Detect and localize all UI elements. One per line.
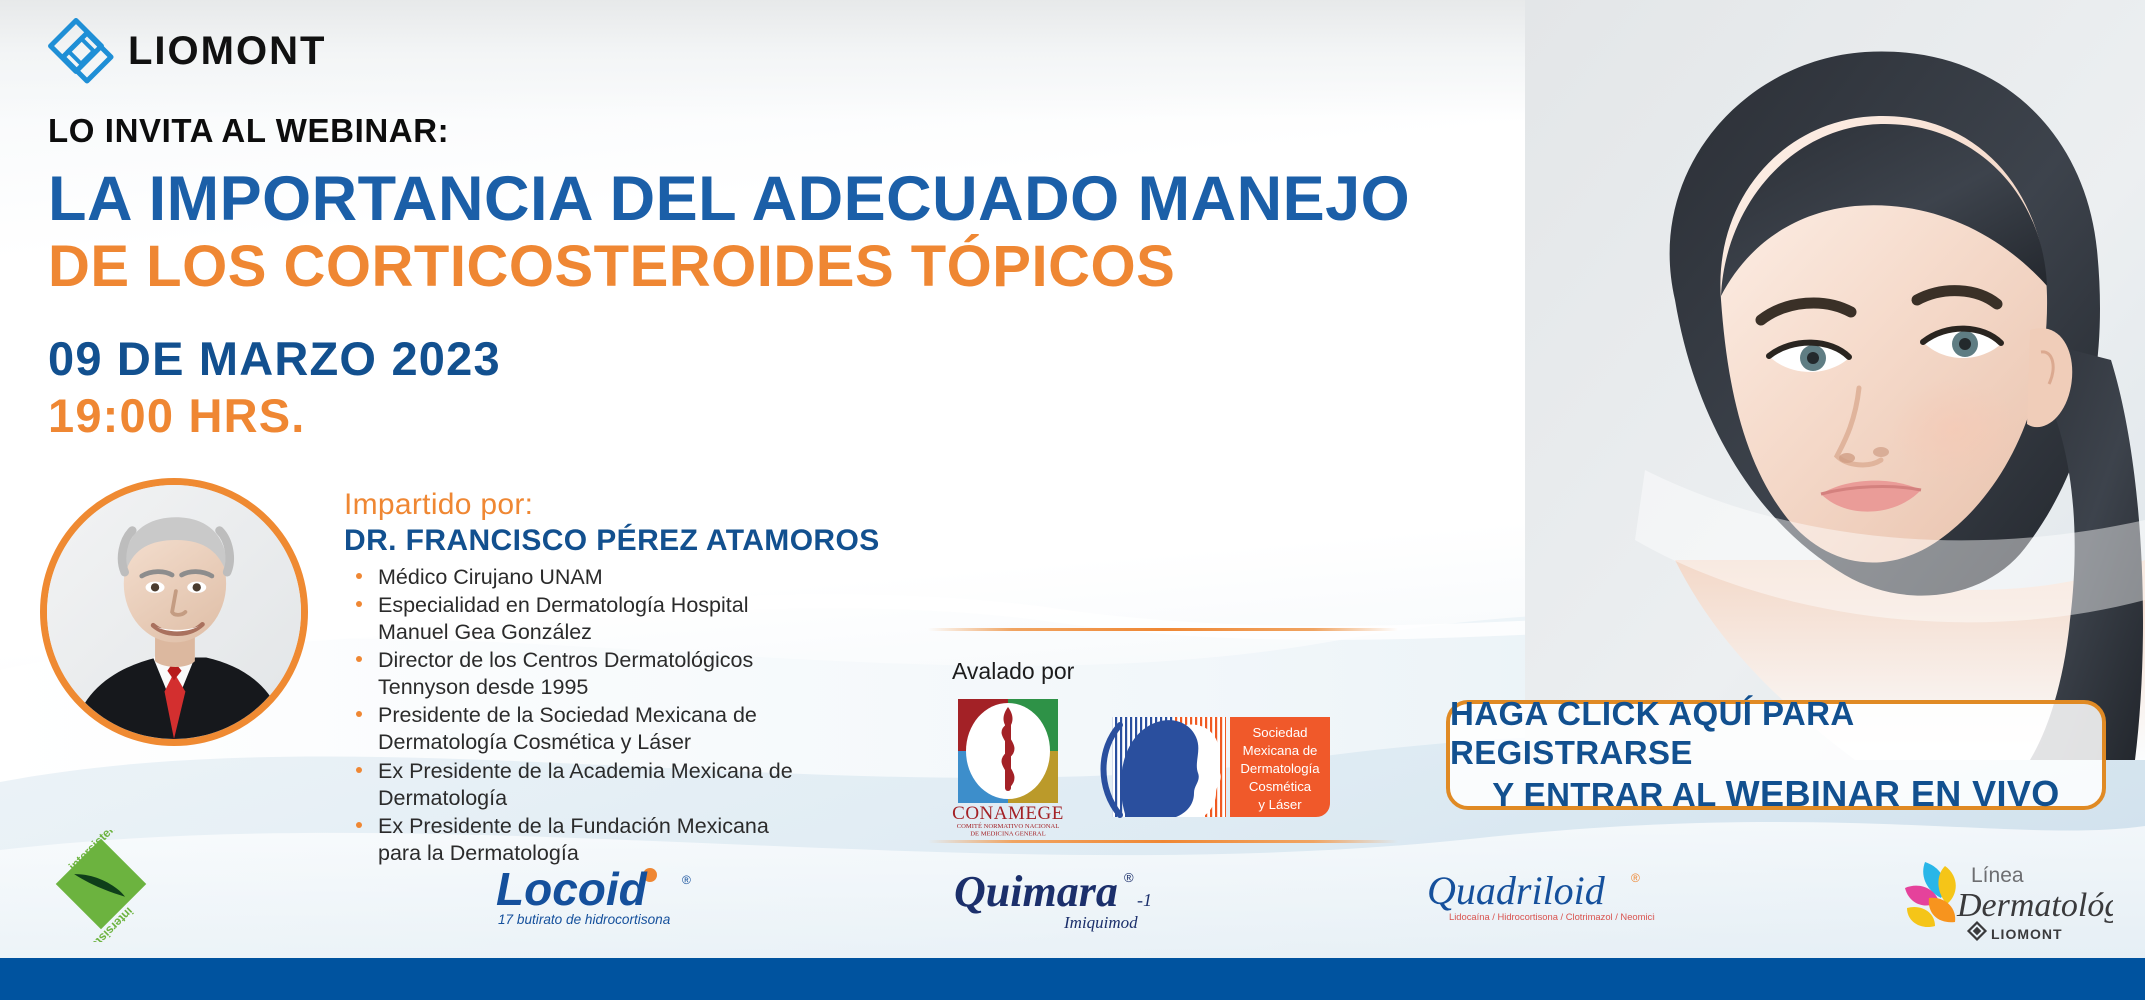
accent-rule-top bbox=[928, 628, 1398, 631]
smdcl-line-3: Dermatología bbox=[1240, 761, 1320, 776]
model-photo bbox=[1525, 0, 2145, 760]
quimara-logo: Quimara ® -1 Imiquimod bbox=[952, 862, 1164, 934]
smdcl-line-5: y Láser bbox=[1258, 797, 1302, 812]
liomont-mini-mark bbox=[1969, 923, 1986, 940]
quadriloid-name-blue: Quadriloid bbox=[1427, 868, 1606, 913]
credential-item: Presidente de la Sociedad Mexicana de De… bbox=[344, 702, 814, 756]
linea-label: Línea bbox=[1971, 864, 2024, 887]
liomont-mini-wordmark: LIOMONT bbox=[1991, 926, 2063, 942]
locoid-logo: Locoid ® 17 butirato de hidrocortisona bbox=[492, 858, 708, 932]
credential-text: Director de los Centros Dermatológicos T… bbox=[378, 648, 753, 699]
speaker-intro: Impartido por: bbox=[344, 488, 880, 522]
speaker-block: Impartido por: DR. FRANCISCO PÉREZ ATAMO… bbox=[40, 478, 880, 868]
speaker-name: DR. FRANCISCO PÉREZ ATAMOROS bbox=[344, 524, 880, 558]
credential-text: Presidente de la Sociedad Mexicana de De… bbox=[378, 703, 757, 754]
conamege-logo: CONAMEGE COMITÉ NORMATIVO NACIONAL DE ME… bbox=[952, 697, 1064, 837]
event-time: 19:00 HRS. bbox=[48, 388, 1528, 443]
credential-text: Ex Presidente de la Academia Mexicana de… bbox=[378, 759, 793, 810]
smdcl-line-2: Mexicana de bbox=[1243, 743, 1318, 758]
speaker-details: Impartido por: DR. FRANCISCO PÉREZ ATAMO… bbox=[344, 478, 880, 868]
bullet-icon bbox=[356, 573, 362, 579]
brand-logo: LIOMONT bbox=[48, 18, 326, 84]
petal-flower-icon bbox=[1905, 862, 1956, 927]
credential-item: Ex Presidente de la Academia Mexicana de… bbox=[344, 758, 814, 812]
cta-line-2-prefix: Y ENTRAR AL bbox=[1492, 776, 1725, 813]
credential-text: Especialidad en Dermatología Hospital Ma… bbox=[378, 593, 749, 644]
endorsement-block: Avalado por CONAMEGE COMITÉ NORMATIVO NA… bbox=[938, 630, 1408, 837]
bullet-icon bbox=[356, 711, 362, 717]
quimara-subtitle: Imiquimod bbox=[1063, 913, 1138, 932]
quimara-suffix: -1 bbox=[1137, 890, 1152, 910]
bullet-icon bbox=[356, 822, 362, 828]
credential-item: Especialidad en Dermatología Hospital Ma… bbox=[344, 592, 814, 646]
diamond-logo-icon bbox=[48, 18, 114, 84]
linea-dermatologica-logo: Línea Dermatológica LIOMONT bbox=[1885, 854, 2113, 950]
brand-name: LIOMONT bbox=[128, 29, 326, 74]
smdcl-line-1: Sociedad bbox=[1253, 725, 1308, 740]
smdcl-line-4: Cosmética bbox=[1249, 779, 1312, 794]
quimara-name: Quimara bbox=[954, 867, 1118, 916]
bullet-icon bbox=[356, 767, 362, 773]
credential-item: Médico Cirujano UNAM bbox=[344, 564, 814, 591]
speaker-portrait bbox=[40, 478, 308, 746]
quimara-registered: ® bbox=[1124, 870, 1134, 885]
endorsement-logos: CONAMEGE COMITÉ NORMATIVO NACIONAL DE ME… bbox=[938, 697, 1408, 837]
quadriloid-registered: ® bbox=[1631, 871, 1640, 885]
title-line-2: DE LOS CORTICOSTEROIDES TÓPICOS bbox=[48, 235, 1528, 299]
bottom-color-bar bbox=[0, 958, 2145, 1000]
cta-line-2: Y ENTRAR AL WEBINAR EN VIVO bbox=[1492, 773, 2059, 815]
smdcl-logo: Sociedad Mexicana de Dermatología Cosmét… bbox=[1090, 707, 1336, 827]
headline-block: LO INVITA AL WEBINAR: LA IMPORTANCIA DEL… bbox=[48, 112, 1528, 443]
kicker-text: LO INVITA AL WEBINAR: bbox=[48, 112, 1528, 150]
conamege-subtitle-1: COMITÉ NORMATIVO NACIONAL bbox=[957, 822, 1060, 830]
credential-text: Médico Cirujano UNAM bbox=[378, 565, 603, 589]
locoid-name: Locoid bbox=[496, 863, 648, 915]
cta-line-1: HAGA CLICK AQUÍ PARA REGISTRARSE bbox=[1450, 695, 2102, 773]
locoid-subtitle: 17 butirato de hidrocortisona bbox=[498, 912, 671, 927]
cta-line-2-strong: WEBINAR EN VIVO bbox=[1726, 773, 2060, 814]
event-date: 09 DE MARZO 2023 bbox=[48, 331, 1528, 386]
quadriloid-logo: Quadriloid ® Lidocaína / Hidrocortisona … bbox=[1425, 864, 1655, 928]
register-cta-button[interactable]: HAGA CLICK AQUÍ PARA REGISTRARSE Y ENTRA… bbox=[1446, 700, 2106, 810]
locoid-registered: ® bbox=[682, 873, 691, 887]
conamege-subtitle-2: DE MEDICINA GENERAL bbox=[970, 831, 1045, 838]
webinar-banner: LIOMONT LO INVITA AL WEBINAR: LA IMPORTA… bbox=[0, 0, 2145, 1000]
dermatologica-script: Dermatológica bbox=[1956, 887, 2113, 924]
speaker-credentials-list: Médico Cirujano UNAM Especialidad en Der… bbox=[344, 564, 880, 867]
credential-item: Director de los Centros Dermatológicos T… bbox=[344, 647, 814, 701]
intersistemas-logo: intersistemas intersistemas bbox=[42, 830, 160, 942]
quadriloid-subtitle: Lidocaína / Hidrocortisona / Clotrimazol… bbox=[1449, 911, 1655, 922]
bullet-icon bbox=[356, 656, 362, 662]
title-line-1: LA IMPORTANCIA DEL ADECUADO MANEJO bbox=[48, 166, 1528, 233]
bullet-icon bbox=[356, 601, 362, 607]
conamege-acronym: CONAMEGE bbox=[952, 803, 1064, 824]
endorsement-label: Avalado por bbox=[952, 658, 1408, 685]
accent-rule-bottom bbox=[928, 840, 1398, 843]
